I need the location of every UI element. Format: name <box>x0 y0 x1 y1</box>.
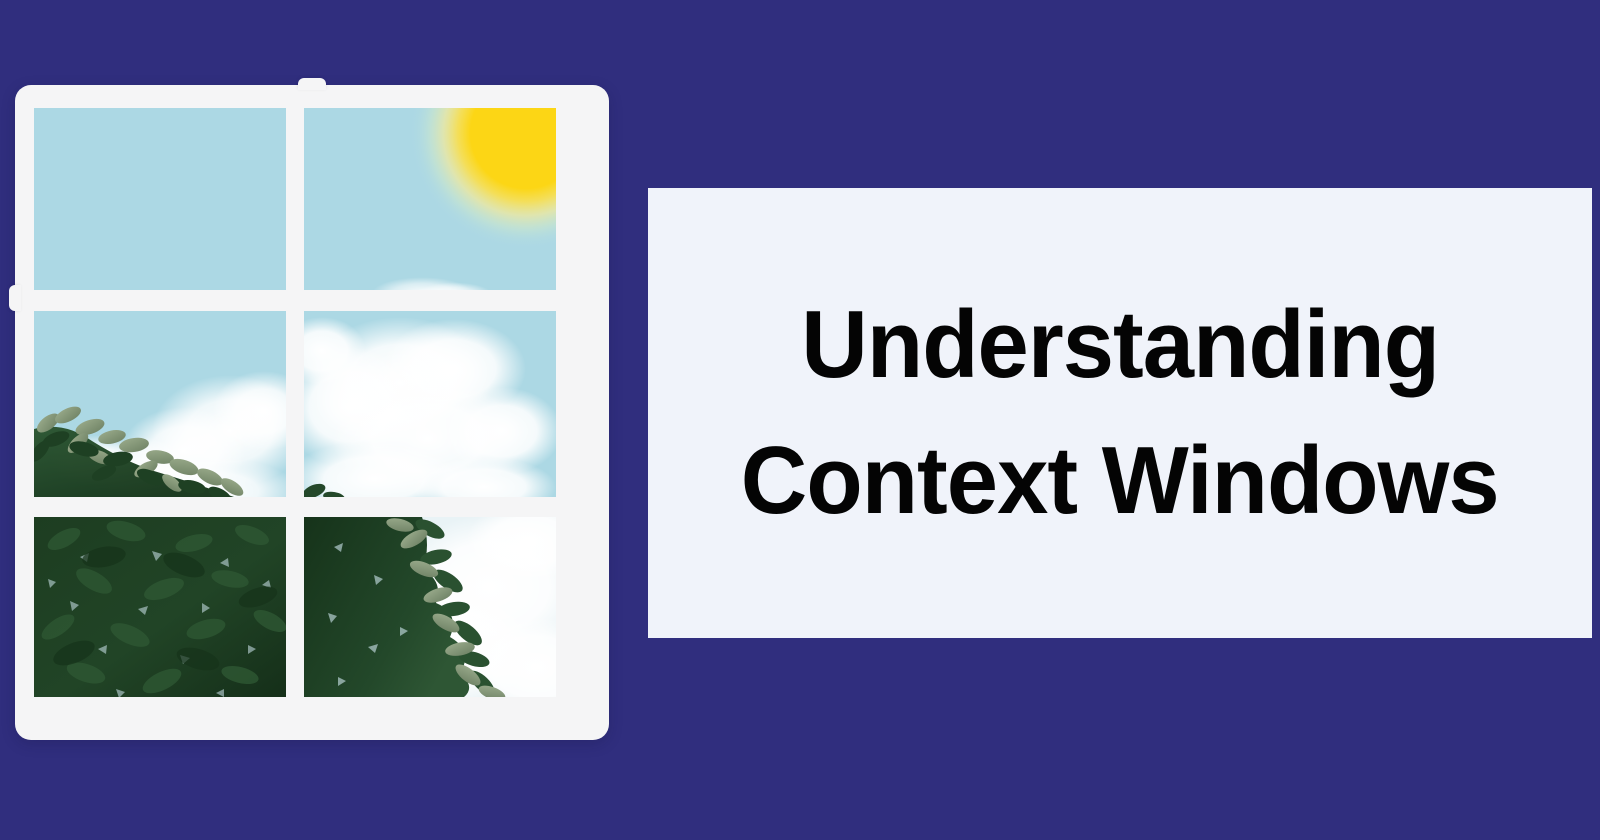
window-pane-bottom-left <box>34 517 286 697</box>
title-line-2: Context Windows <box>741 413 1499 549</box>
window-pane-top-right <box>304 108 556 290</box>
window-pane-bottom-right <box>304 517 556 697</box>
window-frame-grid <box>34 108 590 717</box>
title-card: Understanding Context Windows <box>648 188 1592 638</box>
slide-canvas: Understanding Context Windows <box>0 0 1600 840</box>
window-pane-middle-left <box>34 311 286 497</box>
window-illustration <box>15 85 609 740</box>
window-handle-left-icon <box>9 285 21 311</box>
window-handle-top-icon <box>298 78 326 90</box>
window-pane-middle-right <box>304 311 556 497</box>
title-line-1: Understanding <box>801 277 1439 413</box>
window-pane-top-left <box>34 108 286 290</box>
